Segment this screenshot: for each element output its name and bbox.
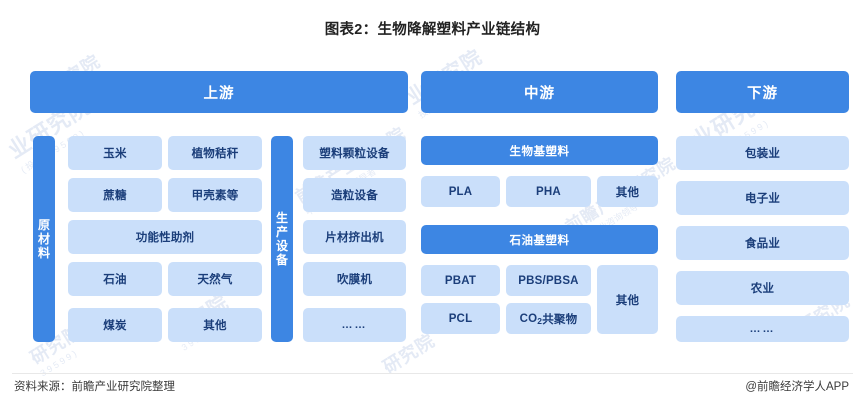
section-header-upstream[interactable]: 上游 — [30, 71, 408, 113]
downstream-cell-agriculture[interactable]: 农业 — [676, 271, 849, 305]
midstream-cell-pbat[interactable]: PBAT — [421, 265, 500, 296]
section-header-downstream[interactable]: 下游 — [676, 71, 849, 113]
upstream-cell-chitin[interactable]: 甲壳素等 — [168, 178, 262, 212]
industry-chain-diagram: 业研究院( 投资 ) 3 9 5 9 9 ) 研究院3 9 5 9 9 ) 研究… — [0, 0, 865, 406]
downstream-cell-food[interactable]: 食品业 — [676, 226, 849, 260]
upstream-cell-plastic-pellet-equipment[interactable]: 塑料颗粒设备 — [303, 136, 406, 170]
midstream-cell-co2-copolymer[interactable]: CO2共聚物 — [506, 303, 591, 334]
upstream-cell-more[interactable]: …… — [303, 308, 406, 342]
upstream-cell-granulating-equipment[interactable]: 造粒设备 — [303, 178, 406, 212]
upstream-cell-sheet-extruder[interactable]: 片材挤出机 — [303, 220, 406, 254]
downstream-cell-electronics[interactable]: 电子业 — [676, 181, 849, 215]
midstream-cell-pcl[interactable]: PCL — [421, 303, 500, 334]
midstream-cell-bio-other[interactable]: 其他 — [597, 176, 658, 207]
upstream-cell-petroleum[interactable]: 石油 — [68, 262, 162, 296]
co2-subscript: 2 — [537, 316, 542, 326]
group-label-raw-materials[interactable]: 原材料 — [33, 136, 55, 342]
midstream-group-header-petroleum-based-plastics[interactable]: 石油基塑料 — [421, 225, 658, 254]
group-label-production-equipment[interactable]: 生产设备 — [271, 136, 293, 342]
footer-source: 资料来源：前瞻产业研究院整理 — [14, 378, 175, 394]
midstream-cell-petro-other[interactable]: 其他 — [597, 265, 658, 334]
upstream-cell-sucrose[interactable]: 蔗糖 — [68, 178, 162, 212]
midstream-cell-pha[interactable]: PHA — [506, 176, 591, 207]
footer-divider — [12, 373, 853, 374]
upstream-cell-corn[interactable]: 玉米 — [68, 136, 162, 170]
downstream-cell-more[interactable]: …… — [676, 316, 849, 342]
upstream-cell-functional-additives[interactable]: 功能性助剂 — [68, 220, 262, 254]
footer-brand: @前瞻经济学人APP — [745, 378, 849, 394]
section-header-midstream[interactable]: 中游 — [421, 71, 658, 113]
downstream-cell-packaging[interactable]: 包装业 — [676, 136, 849, 170]
co2-copolymer-label: 共聚物 — [542, 311, 577, 327]
upstream-cell-coal[interactable]: 煤炭 — [68, 308, 162, 342]
upstream-cell-plant-straw[interactable]: 植物秸秆 — [168, 136, 262, 170]
upstream-cell-other[interactable]: 其他 — [168, 308, 262, 342]
midstream-cell-pla[interactable]: PLA — [421, 176, 500, 207]
upstream-cell-film-blowing-machine[interactable]: 吹膜机 — [303, 262, 406, 296]
midstream-cell-pbs-pbsa[interactable]: PBS/PBSA — [506, 265, 591, 296]
midstream-group-header-bio-based-plastics[interactable]: 生物基塑料 — [421, 136, 658, 165]
upstream-cell-natural-gas[interactable]: 天然气 — [168, 262, 262, 296]
